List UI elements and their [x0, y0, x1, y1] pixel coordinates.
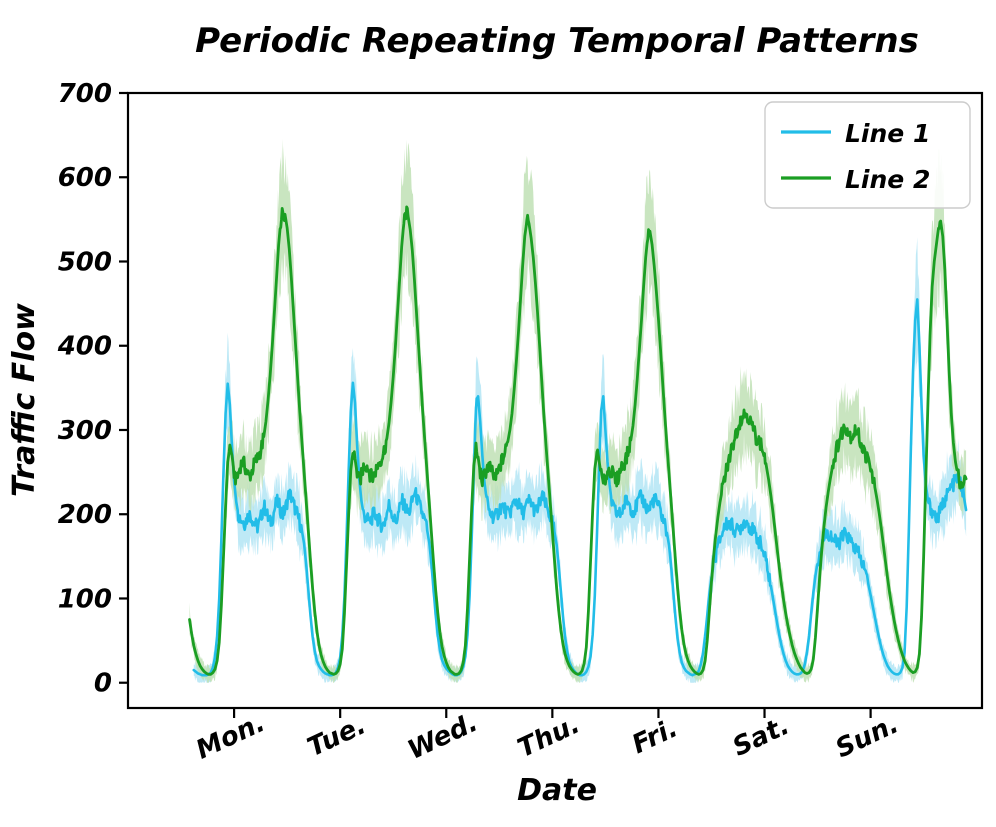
y-tick-label: 300 — [58, 416, 112, 446]
y-tick-label: 400 — [57, 332, 112, 362]
figure-container: Periodic Repeating Temporal Patterns 010… — [0, 0, 996, 827]
x-axis-label: Date — [517, 773, 597, 808]
chart-canvas: Periodic Repeating Temporal Patterns 010… — [0, 0, 996, 827]
legend-label-1: Line 1 — [845, 119, 930, 148]
y-tick-label: 100 — [58, 584, 112, 614]
y-axis-label: Traffic Flow — [7, 303, 42, 497]
legend[interactable]: Line 1Line 2 — [765, 102, 970, 208]
y-tick-label: 600 — [58, 163, 112, 193]
y-tick-label: 200 — [58, 500, 112, 530]
y-tick-label: 0 — [94, 669, 112, 699]
y-tick-label: 700 — [58, 79, 112, 109]
chart-title: Periodic Repeating Temporal Patterns — [195, 21, 919, 61]
legend-label-2: Line 2 — [845, 165, 930, 194]
y-tick-label: 500 — [58, 247, 112, 277]
